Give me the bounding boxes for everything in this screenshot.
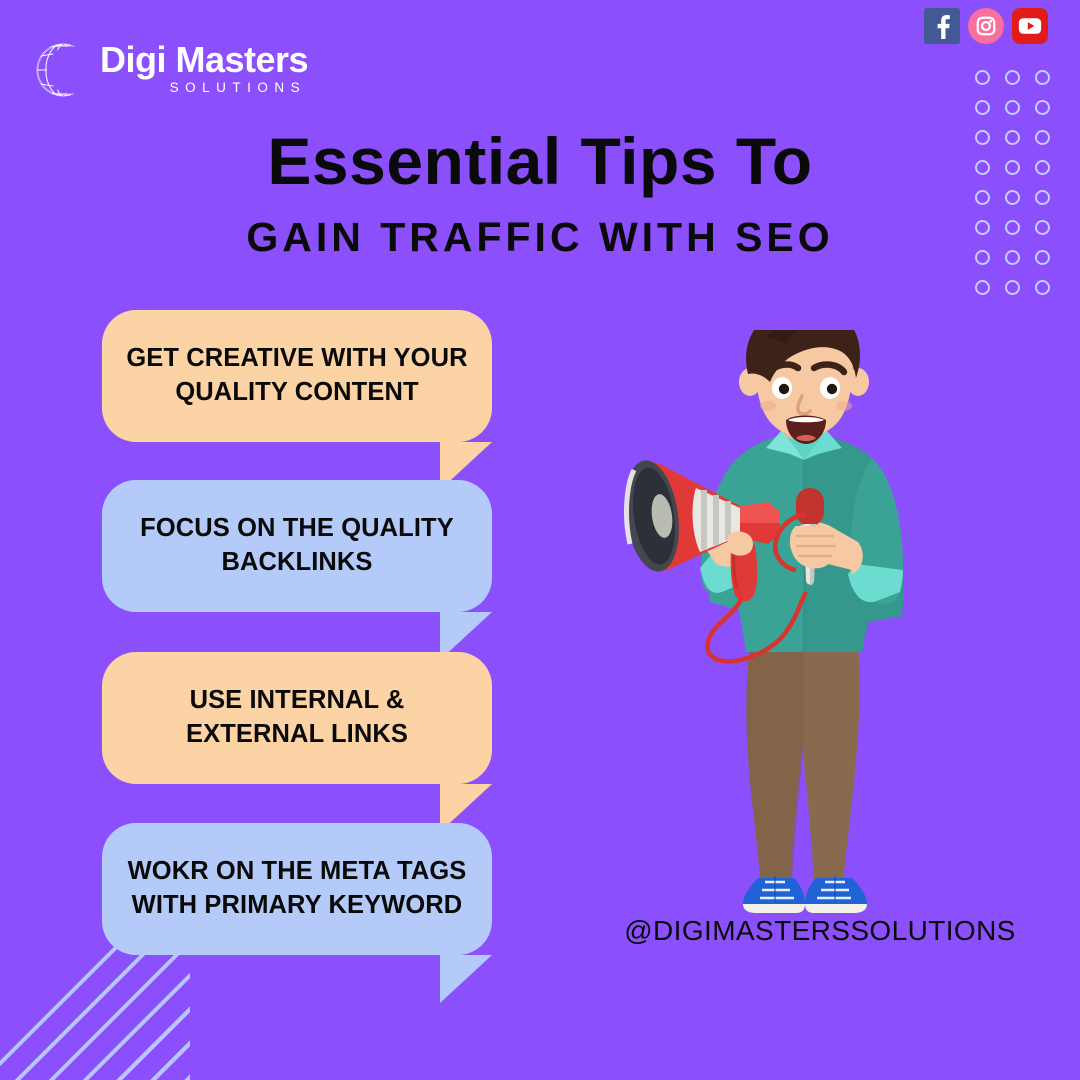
trousers-shadow	[746, 648, 804, 886]
dot	[1035, 70, 1050, 85]
right-pupil	[827, 384, 837, 394]
youtube-icon[interactable]	[1012, 8, 1048, 44]
globe-wireframe-icon	[30, 37, 96, 103]
headline-block: Essential Tips To GAIN TRAFFIC WITH SEO	[0, 128, 1080, 263]
dot	[1005, 70, 1020, 85]
bubble-tail	[440, 955, 492, 1003]
left-shoe	[743, 876, 805, 913]
page-subtitle: GAIN TRAFFIC WITH SEO	[0, 213, 1080, 262]
man-with-megaphone-illustration	[600, 330, 980, 920]
dot	[975, 280, 990, 295]
facebook-icon[interactable]	[924, 8, 960, 44]
head	[739, 330, 869, 444]
instagram-icon[interactable]	[968, 8, 1004, 44]
page-title: Essential Tips To	[0, 128, 1080, 195]
dot	[1035, 100, 1050, 115]
tip-bubble-3[interactable]: USE INTERNAL & EXTERNAL LINKS	[102, 652, 492, 784]
tip-bubble-2[interactable]: FOCUS ON THE QUALITY BACKLINKS	[102, 480, 492, 612]
right-shoe	[805, 876, 867, 913]
instagram-glyph	[975, 15, 997, 37]
dot	[1005, 100, 1020, 115]
poster-canvas: Digi Masters SOLUTIONS Essential Tips T	[0, 0, 1080, 1080]
left-cheek	[760, 401, 776, 411]
right-cheek	[836, 401, 852, 411]
logo-subtitle: SOLUTIONS	[100, 81, 308, 95]
tip-bubble-1[interactable]: GET CREATIVE WITH YOUR QUALITY CONTENT	[102, 310, 492, 442]
facebook-glyph	[931, 13, 953, 39]
social-handle: @DIGIMASTERSSOLUTIONS	[600, 915, 1040, 947]
tip-bubble-4-text: WOKR ON THE META TAGS WITH PRIMARY KEYWO…	[126, 855, 468, 922]
left-pupil	[779, 384, 789, 394]
tip-bubble-2-text: FOCUS ON THE QUALITY BACKLINKS	[126, 512, 468, 579]
tip-bubble-3-text: USE INTERNAL & EXTERNAL LINKS	[126, 684, 468, 751]
dot	[975, 70, 990, 85]
youtube-glyph	[1018, 17, 1042, 35]
dot	[1035, 280, 1050, 295]
social-icons-group	[924, 8, 1048, 44]
logo-name: Digi Masters	[100, 42, 308, 78]
brand-logo[interactable]: Digi Masters SOLUTIONS	[30, 37, 308, 103]
tip-bubble-4[interactable]: WOKR ON THE META TAGS WITH PRIMARY KEYWO…	[102, 823, 492, 955]
tip-bubble-1-text: GET CREATIVE WITH YOUR QUALITY CONTENT	[126, 342, 468, 409]
dot	[975, 100, 990, 115]
dot	[1005, 280, 1020, 295]
